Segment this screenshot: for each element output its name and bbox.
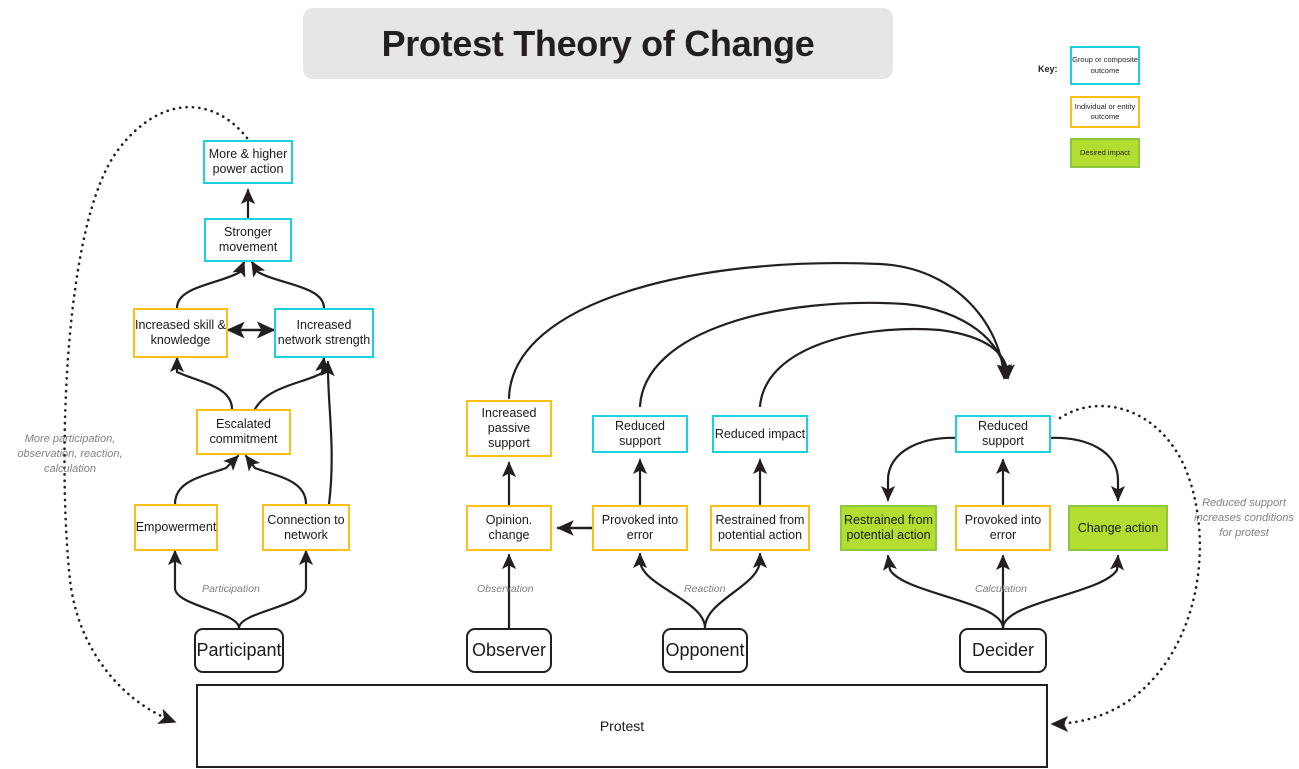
node-label: Decider <box>972 640 1034 661</box>
node-label: Observer <box>472 640 546 661</box>
node-label: Reduced support <box>594 419 686 449</box>
node-restrained-from-potential-action-decider[interactable]: Restrained from potential action <box>840 505 937 551</box>
edge-label-text: Reaction <box>684 583 725 595</box>
node-increased-skill-knowledge[interactable]: Increased skill & knowledge <box>133 308 228 358</box>
node-participant[interactable]: Participant <box>194 628 284 673</box>
node-more-higher-power-action[interactable]: More & higher power action <box>203 140 293 184</box>
title-banner: Protest Theory of Change <box>303 8 893 79</box>
legend-item-desired-impact: Desired impact <box>1070 138 1140 168</box>
node-reduced-support-decider[interactable]: Reduced support <box>955 415 1051 453</box>
edge-label-text: Calculation <box>975 583 1027 595</box>
node-label: Restrained from potential action <box>842 513 935 543</box>
node-label: Protest <box>600 718 644 735</box>
edge-label-calculation: Calculation <box>975 583 1027 595</box>
node-change-action[interactable]: Change action <box>1068 505 1168 551</box>
node-connection-to-network[interactable]: Connection to network <box>262 504 350 551</box>
page-title: Protest Theory of Change <box>382 23 815 65</box>
node-decider[interactable]: Decider <box>959 628 1047 673</box>
node-stronger-movement[interactable]: Stronger movement <box>204 218 292 262</box>
legend-label: Key: <box>1038 64 1058 74</box>
note-left-feedback: More participation, observation, reactio… <box>6 432 134 477</box>
node-increased-passive-support[interactable]: Increased passive support <box>466 400 552 457</box>
node-label: Change action <box>1078 521 1159 536</box>
node-label: Provoked into error <box>594 513 686 543</box>
node-opinion-change[interactable]: Opinion. change <box>466 505 552 551</box>
node-label: Connection to network <box>264 513 348 543</box>
node-restrained-from-potential-action-opponent[interactable]: Restrained from potential action <box>710 505 810 551</box>
legend-item-label: Individual or entity outcome <box>1072 102 1138 122</box>
node-reduced-support-opponent[interactable]: Reduced support <box>592 415 688 453</box>
edge-label-participation: Participation <box>202 583 260 595</box>
node-label: Increased network strength <box>276 318 372 348</box>
node-provoked-into-error-opponent[interactable]: Provoked into error <box>592 505 688 551</box>
edge-label-observation: Observation <box>477 583 534 595</box>
legend-item-label: Group or composite outcome <box>1072 55 1138 75</box>
note-text: Reduced support increases conditions for… <box>1194 497 1294 539</box>
edge-label-text: Observation <box>477 583 534 595</box>
node-observer[interactable]: Observer <box>466 628 552 673</box>
node-label: Participant <box>196 640 281 661</box>
node-label: Increased passive support <box>468 406 550 450</box>
node-label: Restrained from potential action <box>712 513 808 543</box>
legend-item-group-outcome: Group or composite outcome <box>1070 46 1140 85</box>
node-reduced-impact[interactable]: Reduced impact <box>712 415 808 453</box>
note-text: More participation, observation, reactio… <box>17 433 122 475</box>
node-opponent[interactable]: Opponent <box>662 628 748 673</box>
edge-label-text: Participation <box>202 583 260 595</box>
diagram-canvas: Protest Theory of Change Key: Group or c… <box>0 0 1299 769</box>
node-protest[interactable]: Protest <box>196 684 1048 768</box>
legend-item-individual-outcome: Individual or entity outcome <box>1070 96 1140 128</box>
node-label: Stronger movement <box>206 225 290 255</box>
node-label: Provoked into error <box>957 513 1049 543</box>
edge-label-reaction: Reaction <box>684 583 725 595</box>
node-escalated-commitment[interactable]: Escalated commitment <box>196 409 291 455</box>
node-provoked-into-error-decider[interactable]: Provoked into error <box>955 505 1051 551</box>
node-label: Increased skill & knowledge <box>135 318 226 348</box>
node-label: Opponent <box>665 640 744 661</box>
note-right-feedback: Reduced support increases conditions for… <box>1192 496 1296 541</box>
node-label: Reduced support <box>957 419 1049 449</box>
node-increased-network-strength[interactable]: Increased network strength <box>274 308 374 358</box>
node-label: Escalated commitment <box>198 417 289 447</box>
node-label: Reduced impact <box>715 427 805 442</box>
node-empowerment[interactable]: Empowerment <box>134 504 218 551</box>
legend-item-label: Desired impact <box>1080 148 1130 158</box>
node-label: Empowerment <box>136 520 217 535</box>
node-label: More & higher power action <box>205 147 291 177</box>
node-label: Opinion. change <box>468 513 550 543</box>
